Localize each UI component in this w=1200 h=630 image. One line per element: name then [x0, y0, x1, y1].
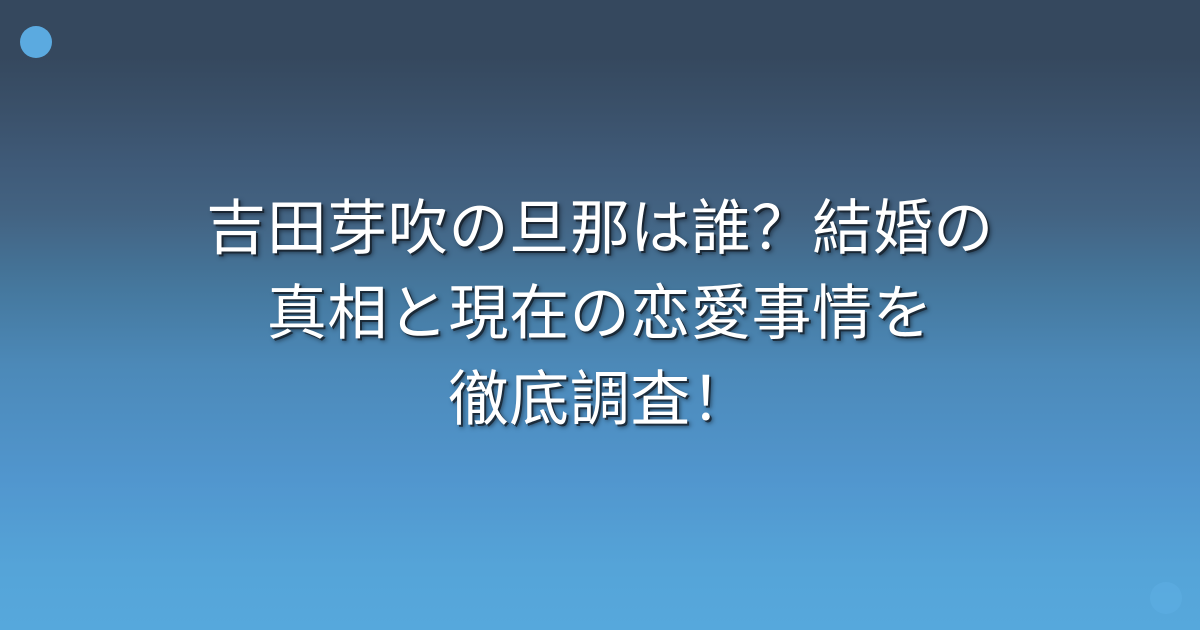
- page-title: 吉田芽吹の旦那は誰？結婚の 真相と現在の恋愛事情を 徹底調査！: [100, 187, 1100, 443]
- title-container: 吉田芽吹の旦那は誰？結婚の 真相と現在の恋愛事情を 徹底調査！: [0, 0, 1200, 630]
- og-share-card: 吉田芽吹の旦那は誰？結婚の 真相と現在の恋愛事情を 徹底調査！: [0, 0, 1200, 630]
